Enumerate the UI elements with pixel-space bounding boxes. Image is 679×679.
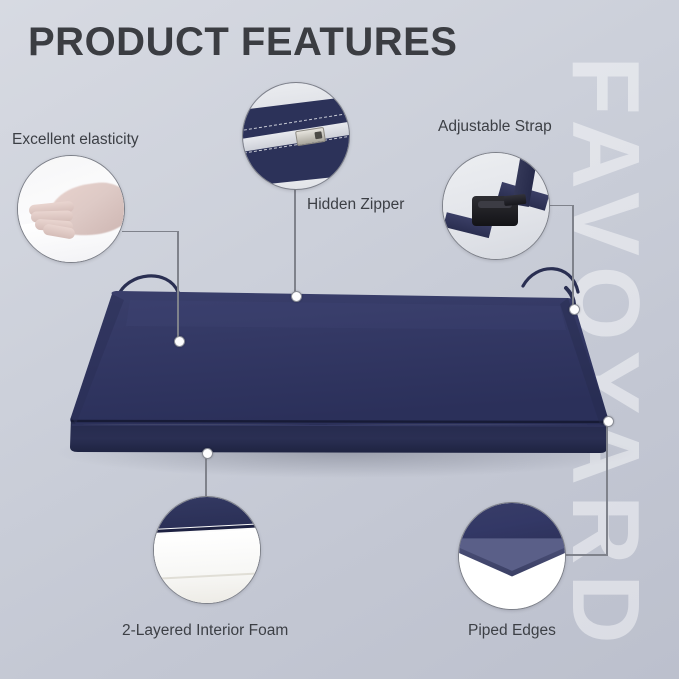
- feature-label-excellent-elasticity: Excellent elasticity: [12, 131, 139, 149]
- callout-hidden-zipper[interactable]: [242, 82, 350, 190]
- marker-dot-strap: [569, 304, 580, 315]
- connector-piped-vertical: [606, 422, 608, 555]
- marker-dot-piped: [603, 416, 614, 427]
- callout-two-layered-interior-foam[interactable]: [153, 496, 261, 604]
- marker-dot-elasticity: [174, 336, 185, 347]
- feature-label-hidden-zipper: Hidden Zipper: [307, 196, 404, 214]
- connector-elasticity-horizontal: [122, 231, 179, 233]
- connector-foam-vertical: [205, 452, 207, 498]
- infographic-canvas: FAVOYARD PRODUCT FEATURES: [0, 0, 679, 679]
- piped-corner-icon: [459, 503, 565, 609]
- feature-label-two-layered-interior-foam: 2-Layered Interior Foam: [122, 622, 288, 640]
- brand-watermark: FAVOYARD: [550, 56, 660, 653]
- callout-excellent-elasticity[interactable]: [17, 155, 125, 263]
- connector-elasticity-vertical: [177, 231, 179, 341]
- connector-strap-horizontal: [548, 205, 574, 207]
- foam-layers-icon: [154, 497, 260, 603]
- feature-label-piped-edges: Piped Edges: [468, 622, 556, 640]
- feature-label-adjustable-strap: Adjustable Strap: [438, 118, 552, 136]
- hand-pressing-foam-icon: [18, 156, 124, 262]
- buckle-strap-icon: [443, 153, 549, 259]
- connector-strap-vertical: [572, 205, 574, 309]
- marker-dot-foam: [202, 448, 213, 459]
- connector-zipper-vertical: [294, 188, 296, 296]
- connector-piped-horizontal: [564, 554, 608, 556]
- callout-piped-edges[interactable]: [458, 502, 566, 610]
- page-title: PRODUCT FEATURES: [28, 20, 457, 65]
- callout-adjustable-strap[interactable]: [442, 152, 550, 260]
- zipper-icon: [243, 83, 349, 189]
- marker-dot-zipper: [291, 291, 302, 302]
